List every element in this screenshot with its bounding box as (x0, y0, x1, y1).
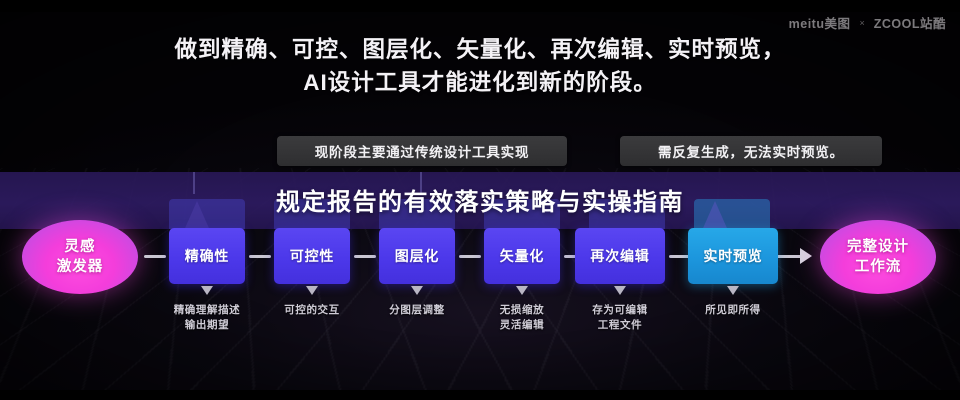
arrow-down-icon (614, 286, 626, 295)
flow-node-step-1[interactable]: 精确性 (169, 228, 245, 284)
presentation-slide: meitu美图 × ZCOOL站酷 做到精确、可控、图层化、矢量化、再次编辑、实… (0, 0, 960, 400)
connector-step-2-to-3 (354, 255, 376, 258)
flow-caption-step-3-line-1: 分图层调整 (357, 303, 477, 318)
flow-caption-step-5-line-1: 存为可编辑 (560, 303, 680, 318)
flow-caption-step-1: 精确理解描述 输出期望 (147, 303, 267, 333)
flow-node-end-line-1: 完整设计 (847, 237, 909, 257)
flow-node-step-5-label: 再次编辑 (590, 246, 649, 266)
flow-caption-step-5-line-2: 工程文件 (560, 318, 680, 333)
flow-caption-step-1-line-1: 精确理解描述 (147, 303, 267, 318)
flow-caption-step-5: 存为可编辑 工程文件 (560, 303, 680, 333)
connector-step-3-to-4 (459, 255, 481, 258)
flow-node-step-3-label: 图层化 (395, 246, 439, 266)
flow-node-step-3[interactable]: 图层化 (379, 228, 455, 284)
flow-node-step-2-label: 可控性 (290, 246, 334, 266)
connector-step-1-to-2 (249, 255, 271, 258)
flow-caption-step-2: 可控的交互 (252, 303, 372, 318)
flow-node-step-5[interactable]: 再次编辑 (575, 228, 665, 284)
flow-node-step-1-label: 精确性 (185, 246, 229, 266)
flow-node-start-line-2: 激发器 (57, 257, 104, 277)
flow-caption-step-3: 分图层调整 (357, 303, 477, 318)
flow-caption-step-2-line-1: 可控的交互 (252, 303, 372, 318)
flow-node-end-line-2: 工作流 (855, 257, 902, 277)
flow-node-end[interactable]: 完整设计 工作流 (820, 220, 936, 294)
arrow-down-icon (201, 286, 213, 295)
arrow-down-icon (411, 286, 423, 295)
flow-caption-step-6-line-1: 所见即所得 (673, 303, 793, 318)
arrow-right-icon (800, 248, 812, 264)
arrow-down-icon (516, 286, 528, 295)
flow-node-start[interactable]: 灵感 激发器 (22, 220, 138, 294)
flow-caption-step-1-line-2: 输出期望 (147, 318, 267, 333)
flow-node-step-4[interactable]: 矢量化 (484, 228, 560, 284)
flow-caption-step-6: 所见即所得 (673, 303, 793, 318)
flow-node-start-line-1: 灵感 (65, 237, 96, 257)
flow-node-step-4-label: 矢量化 (500, 246, 544, 266)
arrow-down-icon (727, 286, 739, 295)
arrow-down-icon (306, 286, 318, 295)
flow-node-step-6-label: 实时预览 (703, 246, 762, 266)
flow-node-step-2[interactable]: 可控性 (274, 228, 350, 284)
connector-start-to-step-1 (144, 255, 166, 258)
overlay-title: 规定报告的有效落实策略与实操指南 (0, 182, 960, 217)
flow-node-step-6[interactable]: 实时预览 (688, 228, 778, 284)
